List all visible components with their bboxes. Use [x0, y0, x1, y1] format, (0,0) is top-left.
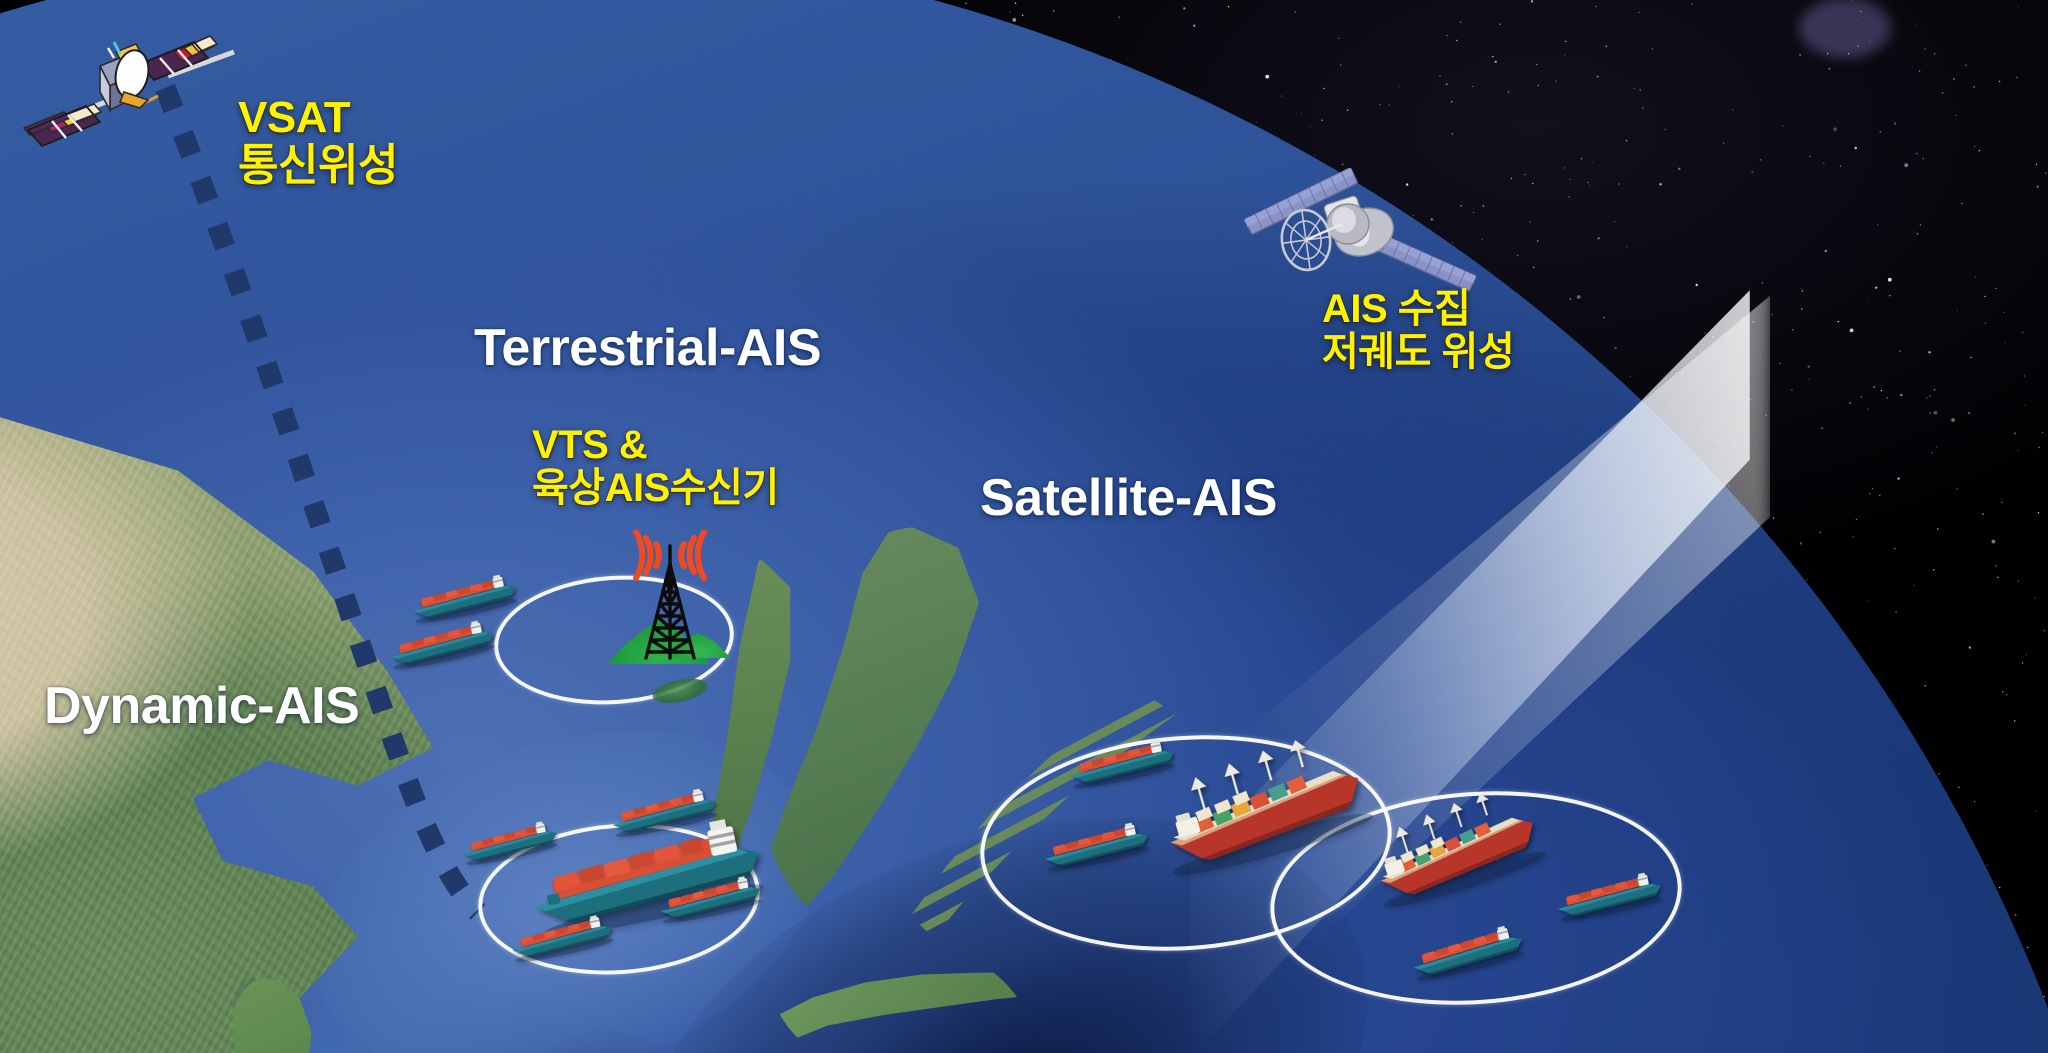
- label-ais-collect-satellite: AIS 수집저궤도 위성: [1322, 288, 1514, 374]
- label-vsat-line2: 통신위성: [238, 142, 398, 190]
- leo-satellite-icon: [1238, 164, 1488, 304]
- label-vts: VTS &육상AIS수신기: [532, 424, 779, 510]
- label-vsat-line1: VSAT: [238, 93, 350, 142]
- label-ais-collect-line1: AIS 수집: [1322, 287, 1470, 331]
- label-satellite-ais: Satellite-AIS: [980, 470, 1277, 526]
- label-dynamic-ais: Dynamic-AIS: [44, 678, 359, 734]
- scene-root: VSAT통신위성 Terrestrial-AIS VTS &육상AIS수신기 S…: [0, 0, 2048, 1053]
- label-vts-line2: 육상AIS수신기: [532, 467, 779, 510]
- vsat-satellite-icon: [8, 18, 268, 168]
- vts-tower-icon: [596, 530, 746, 670]
- label-vts-line1: VTS &: [532, 423, 647, 467]
- label-terrestrial-ais: Terrestrial-AIS: [474, 320, 821, 376]
- label-ais-collect-line2: 저궤도 위성: [1322, 331, 1514, 374]
- label-vsat: VSAT통신위성: [238, 94, 398, 189]
